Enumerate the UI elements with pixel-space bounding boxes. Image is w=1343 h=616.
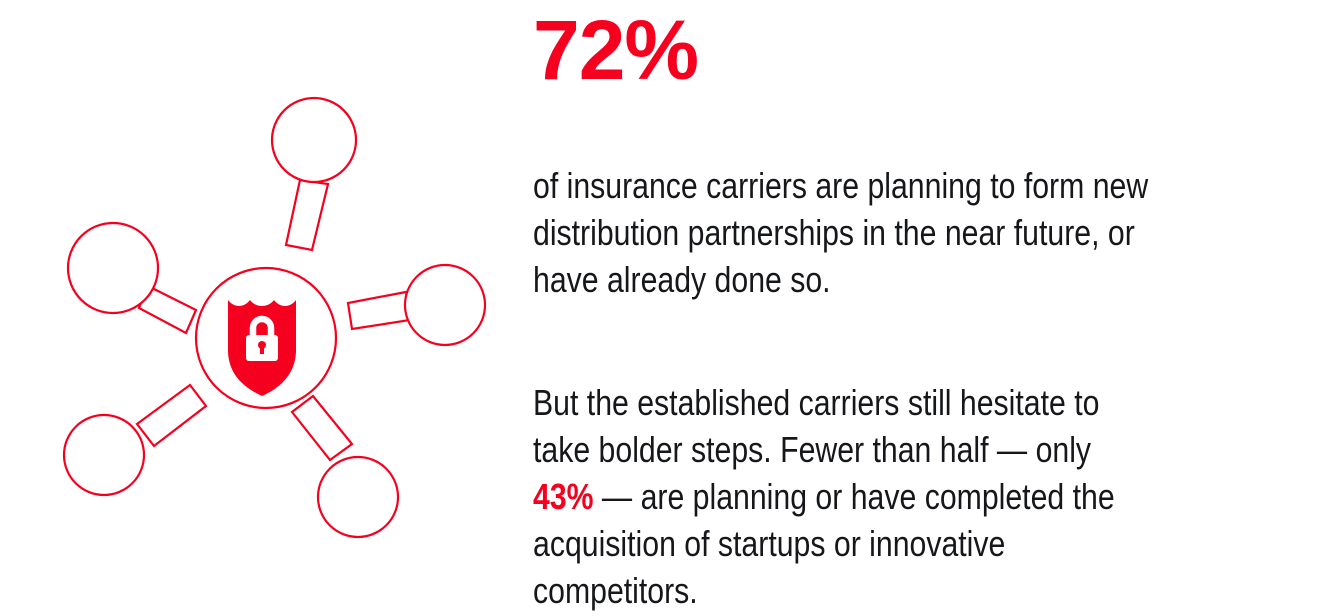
- spoke-node-top: [272, 98, 356, 250]
- secondary-text-after: — are planning or have completed the acq…: [533, 476, 1115, 611]
- primary-paragraph: of insurance carriers are planning to fo…: [533, 162, 1155, 303]
- spoke-circle-bottom-right: [318, 457, 398, 537]
- spoke-circle-right: [405, 265, 485, 345]
- network-illustration: [0, 0, 520, 616]
- spoke-circle-top: [272, 98, 356, 182]
- padlock-keyhole-slot: [260, 345, 264, 354]
- secondary-paragraph: But the established carriers still hesit…: [533, 379, 1155, 614]
- spoke-node-bottom-right: [292, 396, 398, 537]
- spoke-circle-bottom-left: [64, 415, 144, 495]
- spoke-stem-right: [348, 292, 410, 329]
- infographic-slide: 72% of insurance carriers are planning t…: [0, 0, 1343, 616]
- spoke-stem-bottom-right: [292, 396, 352, 460]
- secondary-text-before: But the established carriers still hesit…: [533, 382, 1099, 470]
- spoke-node-bottom-left: [64, 385, 206, 495]
- spoke-stem-top: [286, 180, 328, 250]
- spoke-node-right: [348, 265, 485, 345]
- spoke-node-top-left: [68, 223, 196, 333]
- spoke-stem-bottom-left: [137, 385, 206, 446]
- statistic-text-panel: 72% of insurance carriers are planning t…: [533, 0, 1323, 616]
- secondary-highlight-stat: 43%: [533, 476, 594, 517]
- stat-headline: 72%: [533, 6, 698, 94]
- spoke-circle-top-left: [68, 223, 158, 313]
